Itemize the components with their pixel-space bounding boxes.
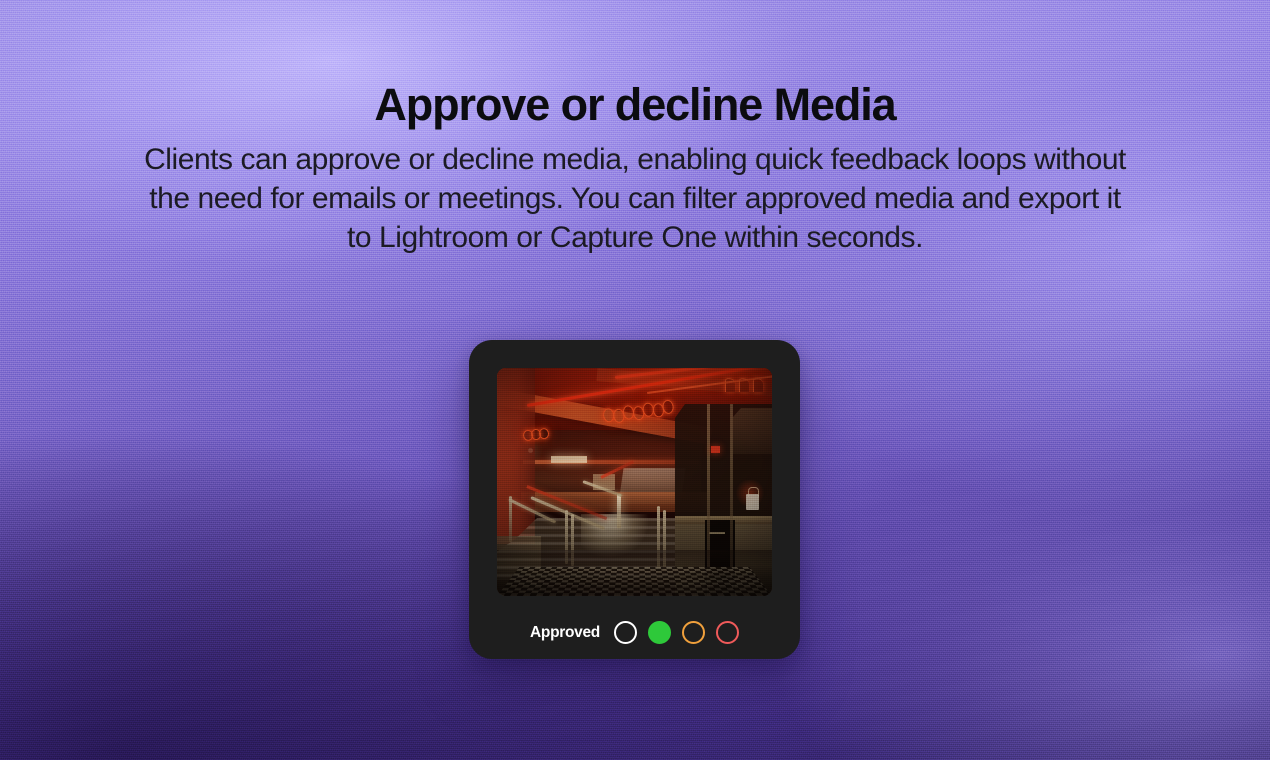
copy-block: Approve or decline Media Clients can app… (0, 0, 1270, 257)
status-none-button[interactable] (614, 621, 637, 644)
media-thumbnail[interactable] (497, 368, 772, 596)
media-card[interactable]: Approved (469, 340, 800, 659)
approval-status-bar: Approved (469, 606, 800, 659)
status-maybe-button[interactable] (682, 621, 705, 644)
page-subtitle: Clients can approve or decline media, en… (140, 140, 1130, 257)
approval-status-label: Approved (530, 624, 600, 642)
promo-page: Approve or decline Media Clients can app… (0, 0, 1270, 760)
photo-grain (497, 368, 772, 596)
status-declined-button[interactable] (716, 621, 739, 644)
page-title: Approve or decline Media (0, 0, 1270, 134)
status-approved-button[interactable] (648, 621, 671, 644)
